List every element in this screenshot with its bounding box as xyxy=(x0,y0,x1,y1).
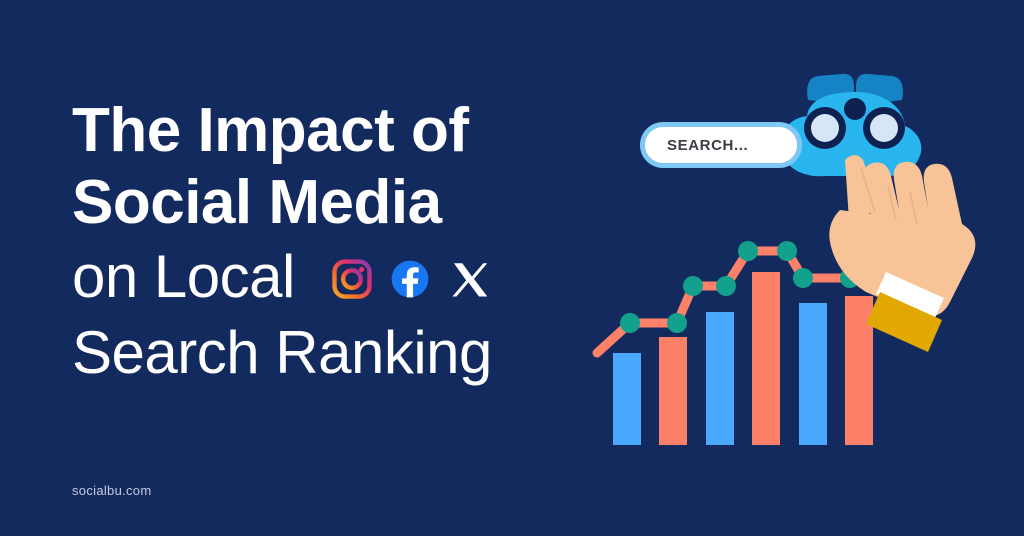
trend-dot xyxy=(667,313,687,333)
x-icon[interactable] xyxy=(447,258,489,300)
trend-dot xyxy=(620,313,640,333)
headline-line-3: on Local xyxy=(72,239,295,315)
trend-dot xyxy=(716,276,736,296)
trend-dot xyxy=(683,276,703,296)
headline-line-2: Social Media xyxy=(72,167,592,239)
headline-line-1: The Impact of xyxy=(72,95,592,167)
pointing-hand-icon xyxy=(829,155,975,352)
trend-markers xyxy=(620,241,860,333)
trend-dot xyxy=(777,241,797,261)
trend-line xyxy=(597,251,850,353)
social-icon-row xyxy=(331,258,489,300)
chart-bar xyxy=(752,272,780,445)
headline-line-3-row: on Local xyxy=(72,239,592,315)
instagram-icon[interactable] xyxy=(331,258,373,300)
chart-bar xyxy=(613,353,641,445)
trend-dot xyxy=(738,241,758,261)
chart-bar xyxy=(659,337,687,445)
headline-block: The Impact of Social Media on Local xyxy=(72,95,592,391)
facebook-icon[interactable] xyxy=(389,258,431,300)
search-placeholder-text: SEARCH... xyxy=(667,137,748,154)
chart-bar xyxy=(799,303,827,445)
trend-dot xyxy=(840,268,860,288)
banner-canvas: SEARCH... The Impact of Social Media on … xyxy=(0,0,1024,536)
binoculars-icon xyxy=(781,74,922,176)
chart-bar xyxy=(706,312,734,445)
bar-chart xyxy=(613,272,873,445)
search-input[interactable]: SEARCH... xyxy=(640,122,802,168)
headline-line-4: Search Ranking xyxy=(72,315,592,391)
chart-bar xyxy=(845,296,873,445)
trend-dot xyxy=(793,268,813,288)
site-url-text[interactable]: socialbu.com xyxy=(72,483,151,498)
